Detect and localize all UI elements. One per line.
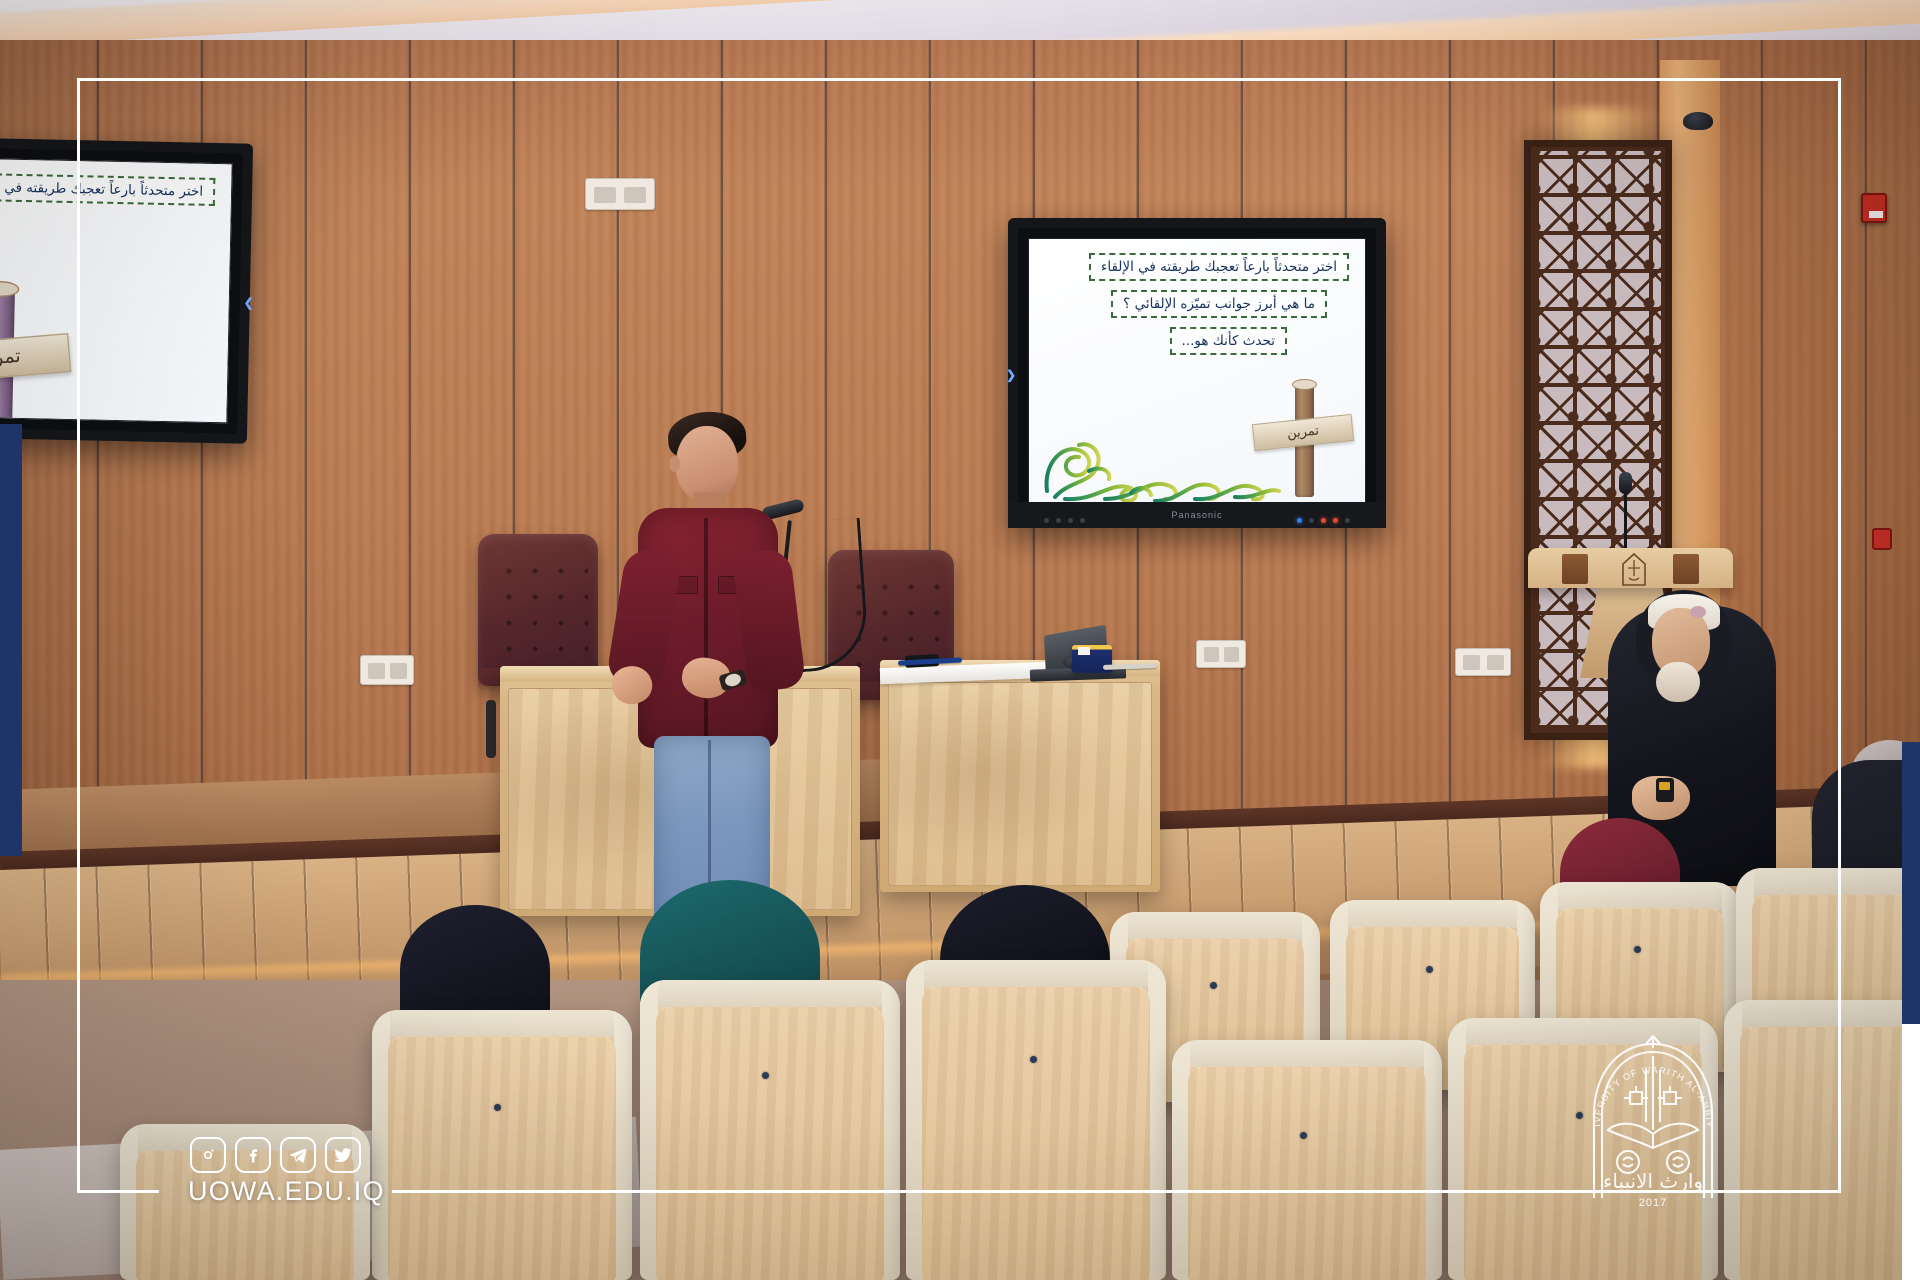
fire-alarm-icon [1872,528,1892,550]
chair-base [486,700,496,758]
display-nav-arrow-icon[interactable]: ❯ [1006,368,1016,382]
signpost-plank: تمرين [1252,414,1354,451]
instagram-icon[interactable] [190,1137,226,1173]
dome-camera-icon [1683,112,1713,130]
accent-bar-bottom-right [1902,1024,1920,1280]
signpost-graphic: تمرين [1255,377,1351,499]
instructor-chin-scarf [1656,662,1700,702]
facebook-icon[interactable] [235,1137,271,1173]
wall-socket [1455,648,1511,676]
vine-filigree-ornament [1035,409,1285,505]
slide-content: اختر متحدثاً بارعاً تعجبك طريقته في الإل… [0,158,232,423]
social-links[interactable] [190,1137,361,1173]
seat-back-panel [656,1006,884,1280]
seat-screw [1030,1056,1037,1063]
seat-back-panel [1188,1066,1426,1280]
slide-line-3: تحدث كأنك هو... [1170,327,1288,355]
podium-microphone [1624,484,1627,548]
auditorium-seat [640,980,900,1280]
display-nav-arrow-icon[interactable]: ❮ [244,296,254,310]
seat-screw [1426,966,1433,973]
slide-line-2: ما هي أبرز جوانب تميّزه الإلقائي ؟ [1111,290,1327,318]
logo-year: 2017 [1639,1197,1667,1209]
desk-front-panel [888,682,1152,886]
seat-screw [494,1104,501,1111]
screenshot-root: اختر متحدثاً بارعاً تعجبك طريقته في الإل… [0,0,1920,1280]
wooden-desk [880,660,1160,892]
auditorium-seat [1172,1040,1442,1280]
signpost-graphic: تمرين [0,277,69,424]
seat-screw [762,1072,769,1079]
display-panel: اختر متحدثاً بارعاً تعجبك طريقته في الإل… [1028,238,1366,508]
seat-side [1148,960,1166,1280]
telegram-icon[interactable] [280,1137,316,1173]
presenter-ear [669,456,680,472]
display-brand-bar: Panasonic [1008,502,1386,528]
presenter-head [676,426,738,502]
display-panel: اختر متحدثاً بارعاً تعجبك طريقته في الإل… [0,157,233,424]
instagram-glyph [198,1145,218,1165]
presenter [612,400,812,960]
facebook-glyph [243,1145,263,1165]
slide-content: اختر متحدثاً بارعاً تعجبك طريقته في الإل… [1029,239,1365,507]
twitter-glyph [333,1145,353,1165]
display-status-leds [1044,518,1085,523]
seat-screw [1634,946,1641,953]
headscarf-motif [1690,606,1706,618]
fire-alarm-icon [1861,193,1887,223]
seat-back-panel [1740,1026,1920,1280]
telegram-glyph [288,1145,308,1165]
signpost-plank: تمرين [0,333,71,384]
handheld-device [1656,778,1674,802]
signpost-cap [1292,379,1317,390]
wall-socket [585,178,655,210]
leather-chair [478,534,598,686]
signpost-cap [0,281,19,298]
accent-bar-left [0,424,22,856]
wall-socket [1196,640,1246,668]
main-display[interactable]: اختر متحدثاً بارعاً تعجبك طريقته في الإل… [1008,218,1386,528]
display-status-leds [1297,518,1350,523]
slide-line-1: اختر متحدثاً بارعاً تعجبك طريقته في الإل… [0,173,215,206]
shirt-placket [704,518,708,742]
frame-border-bottom-left [77,1190,159,1193]
secondary-display[interactable]: اختر متحدثاً بارعاً تعجبك طريقته في الإل… [0,136,253,443]
auditorium-seat [906,960,1166,1280]
university-logo: UNIVERSITY OF WARITH AL-ANBIYAA وارث الا… [1578,1030,1728,1210]
seat-screw [1210,982,1217,989]
chair-tufting [488,550,588,668]
seat-back-panel [922,986,1150,1280]
display-brand-label: Panasonic [1171,510,1222,520]
frame-border-top [77,78,1841,81]
slide-line-1: اختر متحدثاً بارعاً تعجبك طريقته في الإل… [1089,253,1349,281]
seat-side [882,980,900,1280]
university-logo-mark: UNIVERSITY OF WARITH AL-ANBIYAA وارث الا… [1578,1030,1728,1210]
frame-border-right [1838,78,1841,1193]
frame-border-left [77,78,80,1193]
twitter-icon[interactable] [325,1137,361,1173]
podium-inlay [1562,554,1588,584]
seat-screw [1300,1132,1307,1139]
seat-side [1424,1040,1442,1280]
auditorium-seat [372,1010,632,1280]
accent-bar-right [1902,742,1920,1024]
site-url[interactable]: UOWA.EDU.IQ [188,1176,385,1207]
seat-back-panel [388,1036,616,1280]
wall-socket [360,655,414,685]
logo-arabic-text: وارث الانبياء [1603,1169,1703,1193]
auditorium-seat [1724,1000,1920,1280]
seat-side [614,1010,632,1280]
